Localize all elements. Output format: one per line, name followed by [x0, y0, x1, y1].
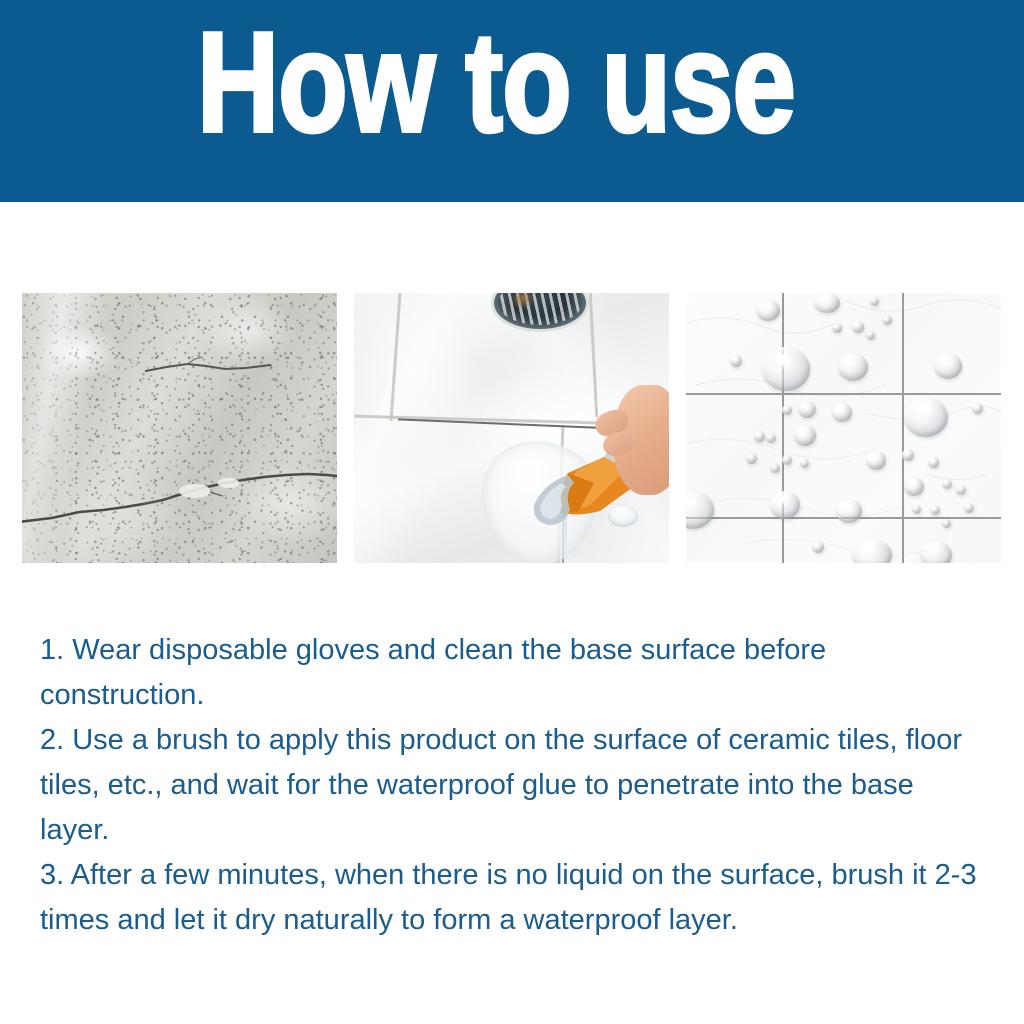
water-droplet — [832, 323, 842, 333]
water-droplet — [794, 425, 816, 446]
water-droplet — [904, 397, 948, 437]
instructions-block: 1. Wear disposable gloves and clean the … — [40, 628, 990, 943]
water-droplet — [762, 347, 810, 391]
water-droplet — [904, 477, 924, 496]
water-droplet — [934, 353, 962, 379]
water-droplet — [902, 449, 914, 461]
water-droplet — [770, 463, 780, 473]
water-droplet — [956, 485, 966, 495]
water-droplet — [882, 315, 892, 325]
water-droplet — [800, 459, 809, 468]
water-droplet — [770, 491, 800, 519]
water-droplet — [730, 355, 742, 367]
water-droplet — [754, 431, 765, 442]
tile-grid-line-vertical — [902, 293, 904, 563]
page-title: How to use — [102, 12, 921, 154]
concrete-main-crack-icon — [22, 466, 337, 536]
instruction-step-3: 3. After a few minutes, when there is no… — [40, 853, 990, 943]
water-droplet — [832, 403, 852, 422]
water-droplet — [836, 499, 862, 523]
instruction-step-2: 2. Use a brush to apply this product on … — [40, 718, 990, 853]
instruction-step-1: 1. Wear disposable gloves and clean the … — [40, 628, 990, 718]
tile-grid-line-vertical — [782, 293, 784, 563]
photo-water-beading-on-tiles — [686, 293, 1001, 563]
water-droplet — [756, 299, 780, 321]
tile-grid-line-horizontal — [686, 393, 1001, 395]
water-droplet — [852, 539, 892, 563]
header-banner: How to use — [0, 0, 1024, 202]
water-droplet — [870, 297, 879, 306]
water-droplet — [746, 453, 757, 464]
water-droplet — [972, 403, 983, 414]
water-droplet — [942, 479, 952, 489]
concrete-secondary-crack-icon — [142, 355, 274, 381]
water-droplet — [812, 541, 824, 553]
water-droplet — [912, 505, 921, 514]
water-droplet — [798, 401, 816, 418]
water-droplet — [838, 353, 868, 381]
water-droplet — [920, 541, 952, 563]
marble-vein-texture — [686, 293, 1001, 563]
water-droplet — [814, 293, 840, 313]
water-droplet — [782, 405, 792, 415]
water-droplet — [942, 519, 951, 528]
photo-strip — [22, 293, 1001, 563]
water-droplet — [928, 457, 939, 468]
water-droplet — [866, 451, 886, 470]
photo-brush-applying-waterproof-glue — [354, 293, 669, 563]
water-droplet — [782, 455, 792, 465]
water-droplet — [930, 505, 940, 515]
water-droplet — [866, 331, 875, 340]
water-droplet — [766, 433, 776, 443]
water-droplet — [964, 503, 974, 513]
water-droplet — [852, 321, 864, 333]
photo-cracked-concrete-surface — [22, 293, 337, 563]
